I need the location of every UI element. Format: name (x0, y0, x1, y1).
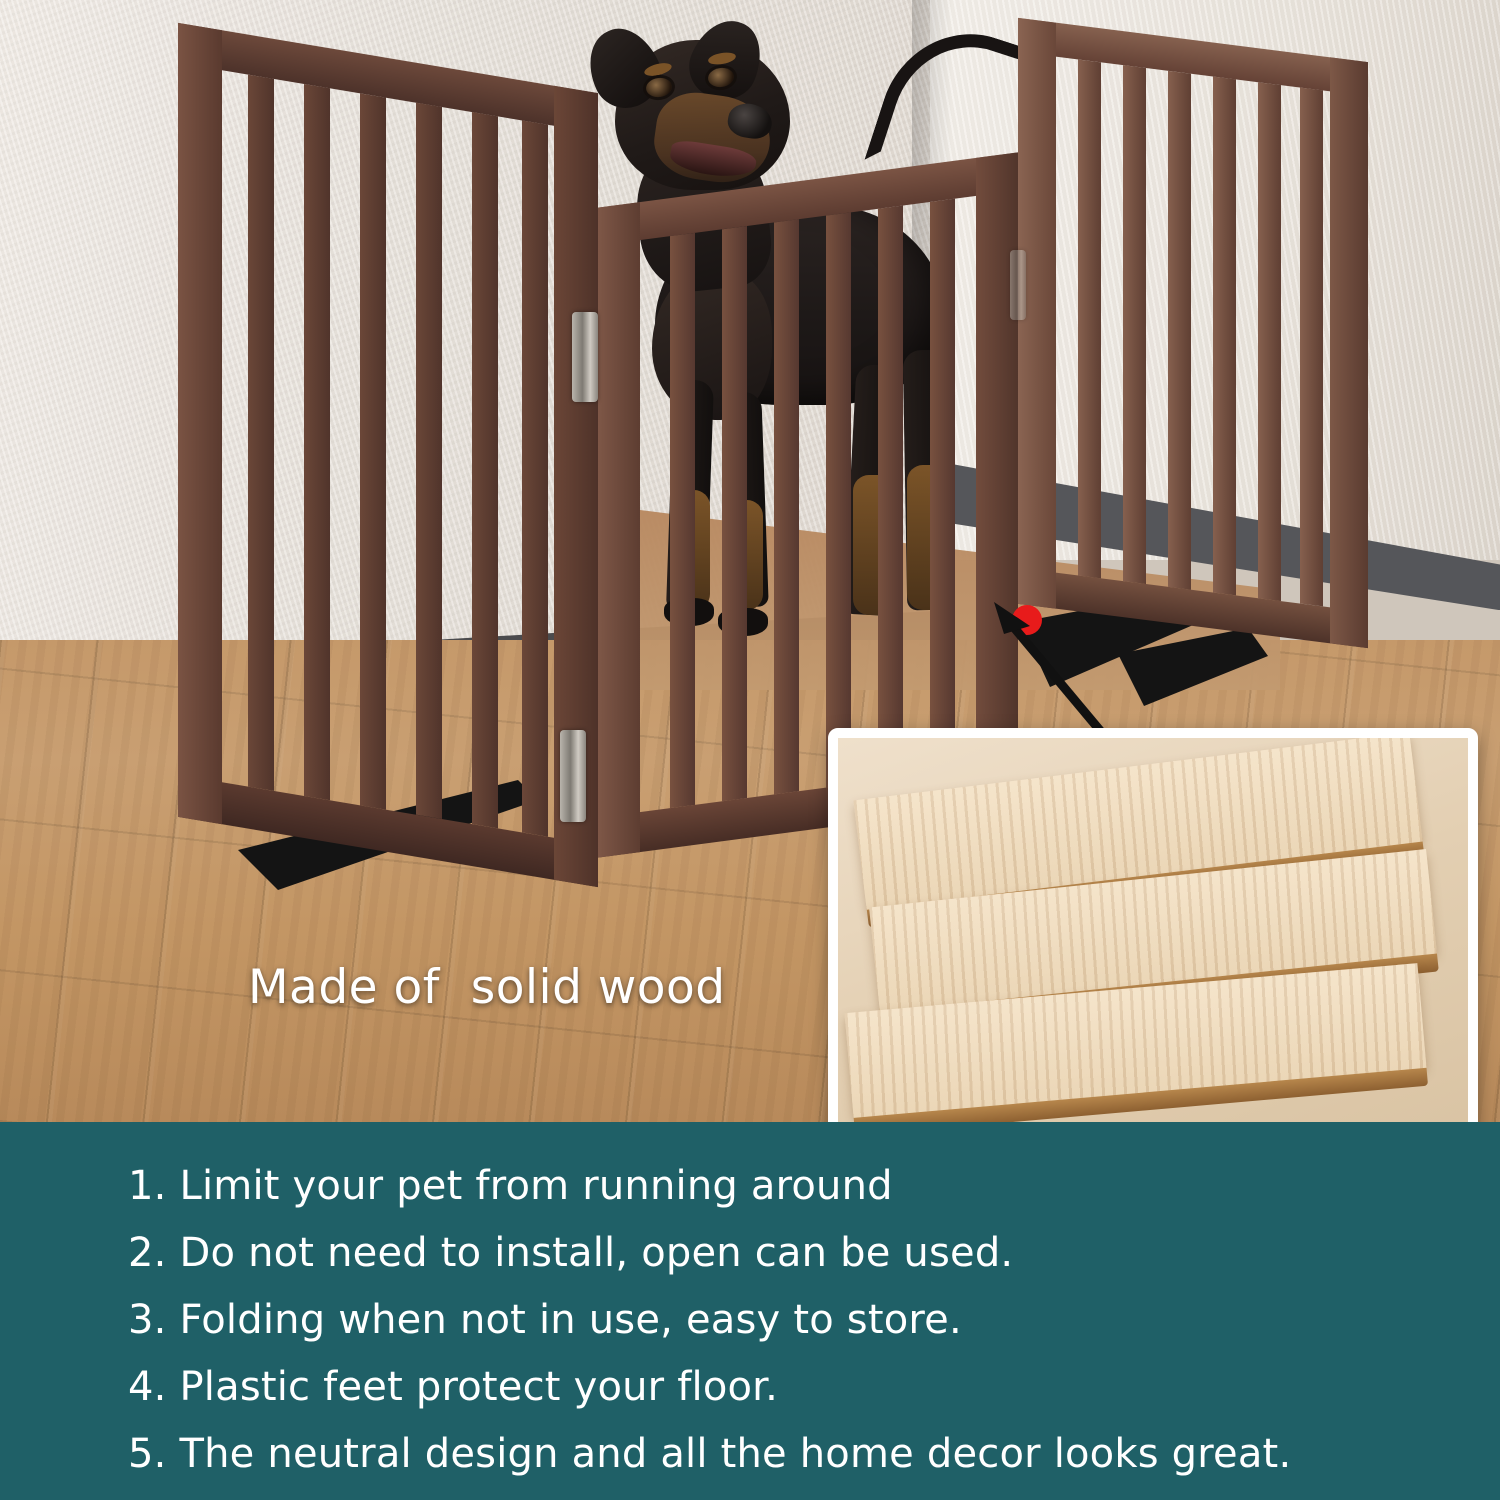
panel-left-slat (304, 84, 330, 800)
hinge-right (1010, 250, 1026, 320)
panel-right-slat (1168, 71, 1191, 590)
panel-right-slat (1123, 65, 1146, 584)
feature-item-1: 1. Limit your pet from running around (128, 1166, 1500, 1206)
caption-made-of-solid-wood: Made of solid wood (248, 960, 726, 1015)
panel-middle-left-stile (598, 202, 640, 858)
panel-left-slat (472, 112, 498, 828)
panel-left-left-stile (178, 23, 222, 824)
panel-left-slat (522, 120, 548, 836)
inset-solid-wood-photo (828, 728, 1478, 1122)
features-list: 1. Limit your pet from running around 2.… (0, 1122, 1500, 1474)
panel-middle-slat (930, 199, 955, 774)
panel-middle-slat (722, 226, 747, 801)
panel-middle-slat (878, 205, 903, 780)
panel-middle-slat (774, 219, 799, 794)
panel-left-slat (248, 75, 274, 791)
product-photo: Made of solid wood (0, 0, 1500, 1122)
hinge-lower-left (560, 730, 586, 822)
panel-left-slat (416, 103, 442, 819)
panel-middle-top-rail (598, 152, 1018, 245)
hinge-upper-left (572, 312, 598, 402)
panel-middle-slat (826, 212, 851, 787)
panel-right-right-stile (1330, 57, 1368, 648)
panel-left-top-rail (178, 23, 598, 133)
panel-right-top-rail (1018, 18, 1368, 96)
panel-right-slat (1213, 77, 1236, 596)
panel-middle-slat (670, 233, 695, 808)
feature-item-3: 3. Folding when not in use, easy to stor… (128, 1300, 1500, 1340)
panel-right-slat (1258, 82, 1281, 601)
panel-right-slat (1078, 59, 1101, 578)
feature-item-5: 5. The neutral design and all the home d… (128, 1434, 1500, 1474)
product-infographic: Made of solid wood 1. Limit your pet fro… (0, 0, 1500, 1500)
panel-left-slat (360, 93, 386, 809)
features-panel: 1. Limit your pet from running around 2.… (0, 1122, 1500, 1500)
panel-left (178, 5, 598, 955)
feature-item-2: 2. Do not need to install, open can be u… (128, 1233, 1500, 1273)
panel-right-slat (1300, 88, 1323, 607)
feature-item-4: 4. Plastic feet protect your floor. (128, 1367, 1500, 1407)
